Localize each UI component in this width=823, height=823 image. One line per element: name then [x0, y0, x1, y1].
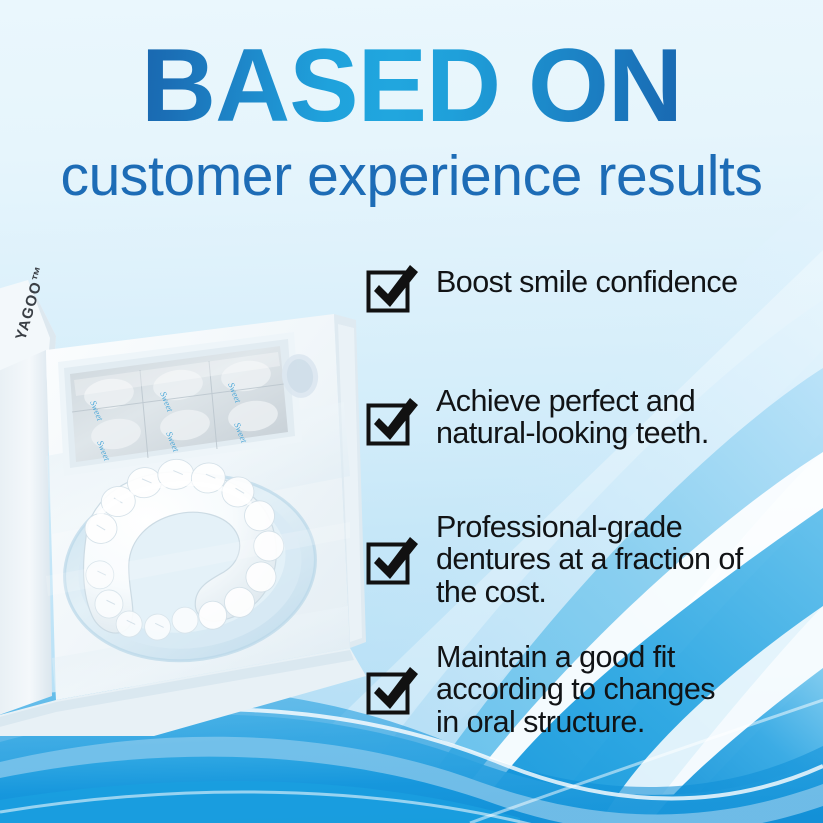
list-item-label: Achieve perfect and natural-looking teet…: [436, 383, 709, 450]
promo-poster: Sweet Sweet Sweet Sweet Sweet Sweet: [0, 0, 823, 823]
checkbox-checked-icon: [366, 264, 422, 314]
checkbox-checked-icon: [366, 397, 422, 447]
page-title: BASED ON: [0, 34, 823, 138]
list-item-label: Maintain a good fit according to changes…: [436, 639, 715, 738]
list-item-label: Professional-grade dentures at a fractio…: [436, 509, 743, 608]
product-photo: Sweet Sweet Sweet Sweet Sweet Sweet: [0, 276, 366, 736]
list-item: Maintain a good fit according to changes…: [366, 639, 715, 738]
list-item: Professional-grade dentures at a fractio…: [366, 509, 743, 608]
checkbox-checked-icon: [366, 666, 422, 716]
checkbox-checked-icon: [366, 536, 422, 586]
page-subtitle: customer experience results: [0, 148, 823, 205]
list-item: Achieve perfect and natural-looking teet…: [366, 383, 709, 450]
list-item: Boost smile confidence: [366, 258, 738, 314]
list-item-label: Boost smile confidence: [436, 258, 738, 298]
